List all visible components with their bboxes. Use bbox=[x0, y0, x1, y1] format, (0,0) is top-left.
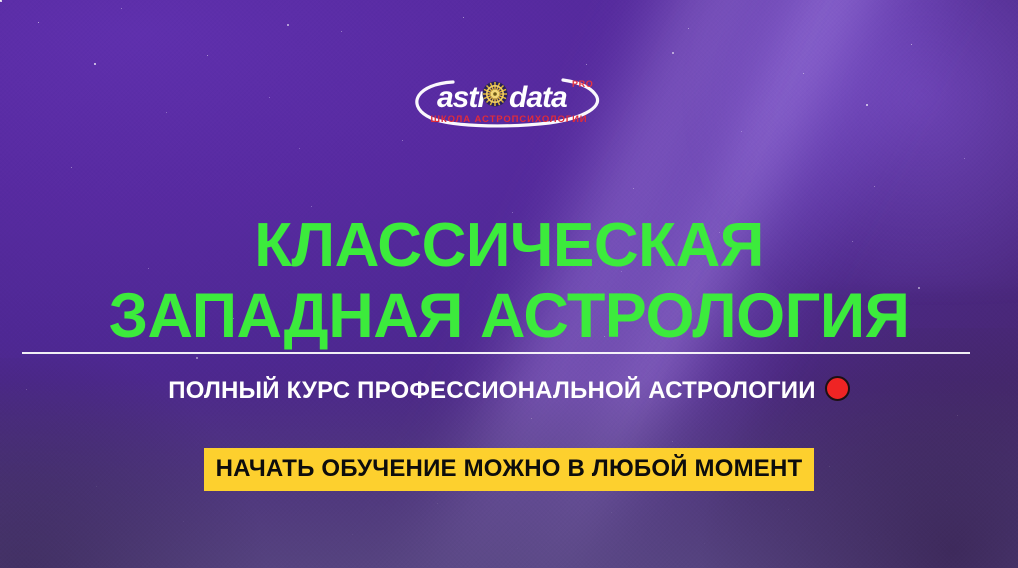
horizontal-divider bbox=[22, 352, 970, 354]
slide-canvas: astr bbox=[0, 0, 1018, 568]
highlight-row: НАЧАТЬ ОБУЧЕНИЕ МОЖНО В ЛЮБОЙ МОМЕНТ bbox=[0, 448, 1018, 491]
slide-content: astr bbox=[0, 0, 1018, 568]
subtitle: ПОЛНЫЙ КУРС ПРОФЕССИОНАЛЬНОЙ АСТРОЛОГИИ bbox=[0, 376, 1018, 405]
astrodata-logo: astr bbox=[409, 74, 609, 130]
red-circle-emoji bbox=[825, 376, 850, 401]
page-title: КЛАССИЧЕСКАЯ ЗАПАДНАЯ АСТРОЛОГИЯ bbox=[0, 210, 1018, 352]
status-badge: НАЧАТЬ ОБУЧЕНИЕ МОЖНО В ЛЮБОЙ МОМЕНТ bbox=[204, 448, 815, 491]
logo-pro-badge: PRO bbox=[572, 79, 593, 89]
sun-astrolabe-icon bbox=[483, 82, 508, 107]
headline-line-1: КЛАССИЧЕСКАЯ bbox=[0, 210, 1018, 281]
logo-tagline: ШКОЛА АСТРОПСИХОЛОГИИ bbox=[430, 114, 587, 125]
logo-wordmark-part2: data bbox=[509, 81, 567, 114]
headline-line-2: ЗАПАДНАЯ АСТРОЛОГИЯ bbox=[0, 281, 1018, 352]
subtitle-text: ПОЛНЫЙ КУРС ПРОФЕССИОНАЛЬНОЙ АСТРОЛОГИИ bbox=[168, 377, 815, 404]
